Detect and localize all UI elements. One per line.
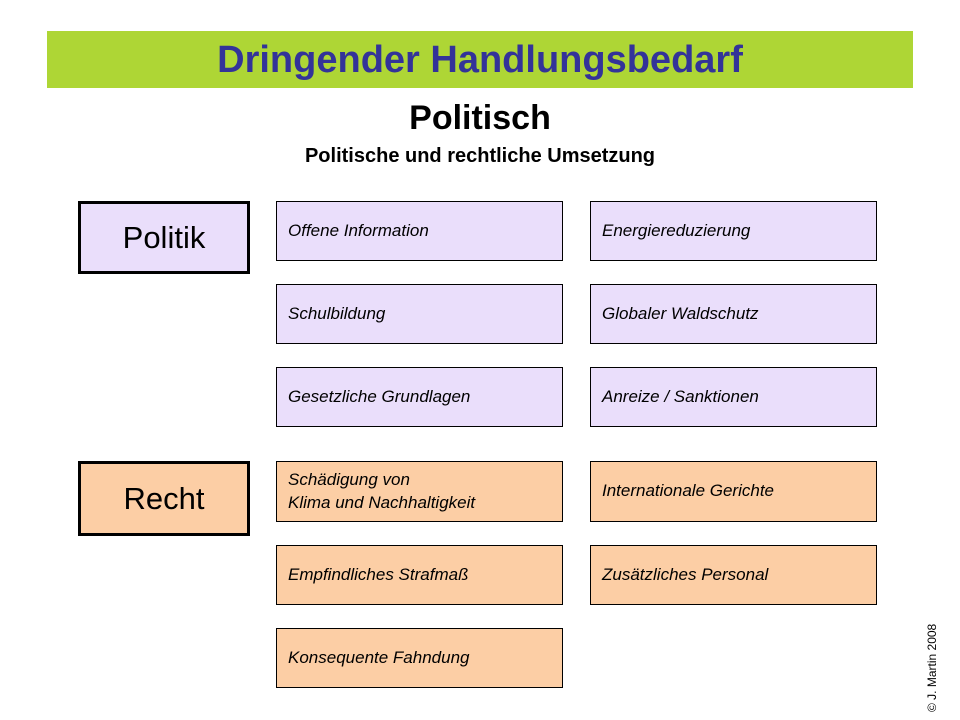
item-text: Konsequente Fahndung bbox=[288, 647, 470, 670]
slide-header-bar: Dringender Handlungsbedarf bbox=[47, 31, 913, 88]
copyright-text: © J. Martin 2008 bbox=[926, 624, 938, 712]
item-box-recht-left-1: Schädigung von Klima und Nachhaltigkeit bbox=[276, 461, 563, 522]
item-text: Zusätzliches Personal bbox=[602, 564, 768, 587]
copyright-notice: © J. Martin 2008 bbox=[938, 592, 956, 712]
item-box-politik-right-2: Globaler Waldschutz bbox=[590, 284, 877, 344]
item-text: Offene Information bbox=[288, 220, 429, 243]
item-box-recht-left-2: Empfindliches Strafmaß bbox=[276, 545, 563, 605]
item-box-recht-right-1: Internationale Gerichte bbox=[590, 461, 877, 522]
section-subtitle: Politische und rechtliche Umsetzung bbox=[0, 146, 960, 166]
item-box-recht-left-3: Konsequente Fahndung bbox=[276, 628, 563, 688]
item-text: Globaler Waldschutz bbox=[602, 303, 759, 326]
item-box-politik-left-1: Offene Information bbox=[276, 201, 563, 261]
item-box-politik-right-1: Energiereduzierung bbox=[590, 201, 877, 261]
item-text: Gesetzliche Grundlagen bbox=[288, 386, 470, 409]
slide-canvas: Dringender Handlungsbedarf Politisch Pol… bbox=[0, 0, 960, 720]
item-text: Anreize / Sanktionen bbox=[602, 386, 759, 409]
category-label-politik: Politik bbox=[123, 222, 206, 253]
category-label-recht: Recht bbox=[124, 483, 205, 514]
item-box-politik-right-3: Anreize / Sanktionen bbox=[590, 367, 877, 427]
item-text: Energiereduzierung bbox=[602, 220, 750, 243]
item-text: Schädigung von Klima und Nachhaltigkeit bbox=[288, 469, 475, 515]
item-text: Internationale Gerichte bbox=[602, 480, 774, 503]
item-text: Empfindliches Strafmaß bbox=[288, 564, 468, 587]
section-title: Politisch bbox=[0, 101, 960, 135]
page-title: Dringender Handlungsbedarf bbox=[217, 41, 743, 79]
item-box-politik-left-2: Schulbildung bbox=[276, 284, 563, 344]
category-box-recht: Recht bbox=[78, 461, 250, 536]
item-box-recht-right-2: Zusätzliches Personal bbox=[590, 545, 877, 605]
item-text: Schulbildung bbox=[288, 303, 385, 326]
item-box-politik-left-3: Gesetzliche Grundlagen bbox=[276, 367, 563, 427]
category-box-politik: Politik bbox=[78, 201, 250, 274]
